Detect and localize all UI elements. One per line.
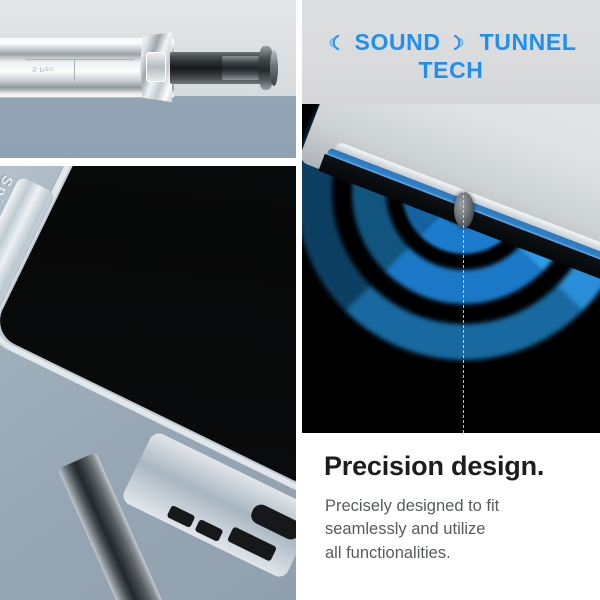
alignment-guide-dashed-line [463, 190, 464, 433]
copy-headline: Precision design. [324, 451, 544, 482]
sound-wave-stage [302, 104, 600, 433]
s-pen-end-cap-face [270, 50, 278, 86]
sound-title-word-primary: SOUND [355, 29, 441, 55]
s-pen-collar [222, 56, 262, 80]
panel-pen-corner: Spigen [0, 166, 296, 600]
sound-tunnel-title: SOUND TUNNEL TECH [302, 28, 600, 84]
panel-pen-slot: S Pen [0, 0, 296, 158]
panel-sound-tunnel: SOUND TUNNEL TECH [302, 0, 600, 433]
copy-body-line-2: seamlessly and utilize [325, 518, 586, 541]
product-feature-collage: S Pen Spigen [0, 0, 600, 600]
copy-body-line-1: Precisely designed to fit [325, 495, 586, 518]
case-etch-label: S Pen [32, 63, 96, 72]
sound-title-word-secondary: TUNNEL [480, 29, 577, 55]
panel-copy: Precision design. Precisely designed to … [302, 433, 600, 600]
speaker-port [454, 192, 474, 228]
case-inner-seam [26, 59, 134, 60]
sound-title-line2: TECH [302, 56, 600, 84]
copy-body: Precisely designed to fit seamlessly and… [325, 495, 586, 565]
copy-body-line-3: all functionalities. [325, 542, 586, 565]
sound-wave-bracket-right-icon [441, 29, 480, 55]
panel-pen-slot-background-lower [0, 96, 296, 158]
sound-wave-bracket-left-icon [326, 29, 355, 55]
pen-slot-clip [146, 52, 166, 82]
